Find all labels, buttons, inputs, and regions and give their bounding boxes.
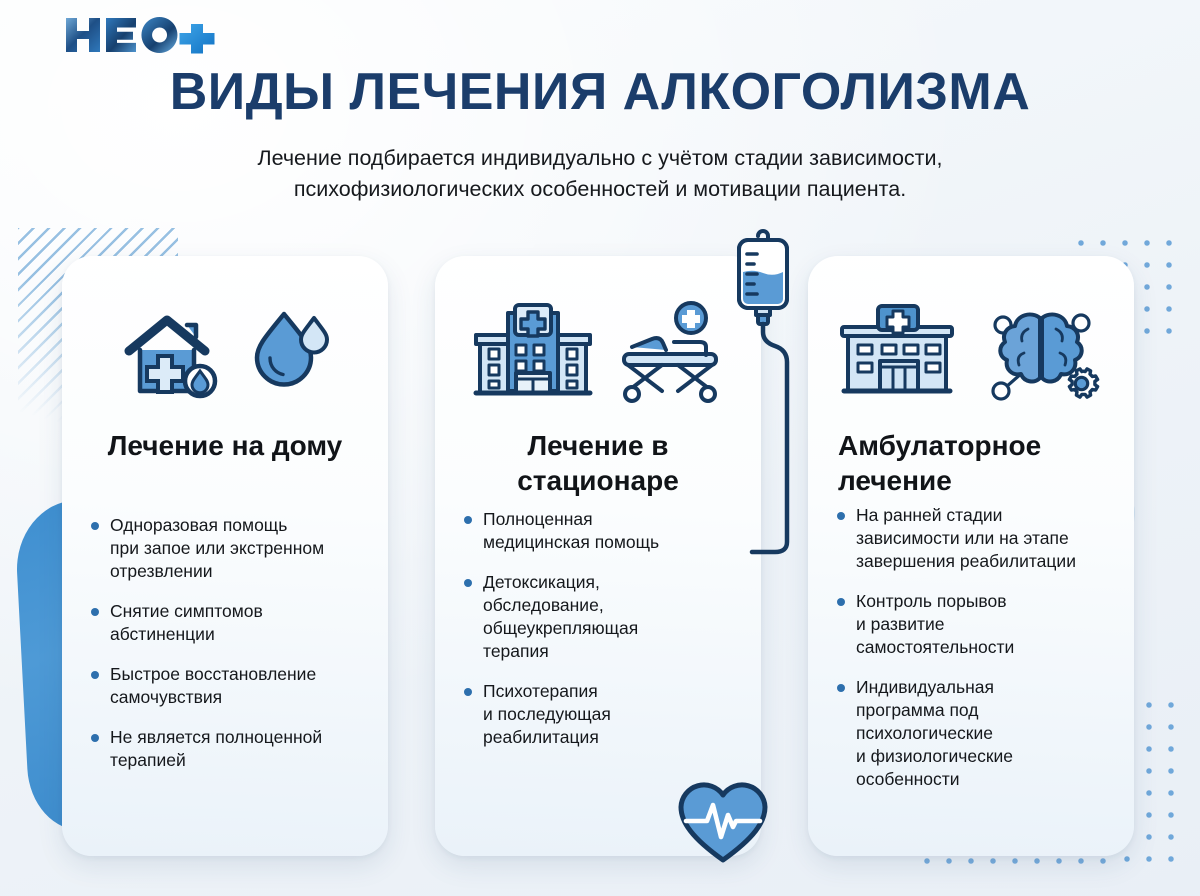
bullet-line: Быстрое восстановление [110,663,370,686]
clinic-building-icon [836,303,958,408]
bullet-line: особенности [856,768,1124,791]
list-item: Снятие симптомов абстиненции [90,600,370,646]
card-title: Лечение на дому [82,428,368,463]
bullet-line: самочувствия [110,686,370,709]
card-bullet-list: На ранней стадии зависимости или на этап… [836,504,1124,808]
bullet-line: при запое или экстренном [110,537,370,560]
hospital-building-icon [472,301,594,410]
card-title-line-2: лечение [838,465,952,496]
card-bullet-list: Одноразовая помощь при запое или экстрен… [90,514,370,789]
hospital-gurney-icon [616,301,724,410]
list-item: Индивидуальная программа под психологиче… [836,676,1124,791]
bullet-line: абстиненции [110,623,370,646]
bullet-line: отрезвлении [110,560,370,583]
bullet-line: Индивидуальная [856,676,1124,699]
list-item: Контроль порывов и развитие самостоятель… [836,590,1124,659]
bullet-line: и развитие [856,613,1124,636]
bullet-line: обследование, [483,594,743,617]
list-item: Психотерапия и последующая реабилитация [463,680,743,749]
bullet-line: Психотерапия [483,680,743,703]
card-title: Амбулаторное лечение [838,428,1114,498]
card-inpatient-treatment[interactable]: Лечение в стационаре Полноценная медицин… [435,256,761,856]
card-icons [808,290,1134,420]
card-bullet-list: Полноценная медицинская помощь Детоксика… [463,508,743,766]
bullet-line: общеукрепляющая [483,617,743,640]
list-item: Детоксикация, обследование, общеукрепляю… [463,571,743,663]
subtitle-line-2: психофизиологических особенностей и моти… [0,174,1200,205]
bullet-line: Снятие симптомов [110,600,370,623]
brain-gear-icon [984,301,1100,410]
infographic-root: ВИДЫ ЛЕЧЕНИЯ АЛКОГОЛИЗМА Лечение подбира… [0,0,1200,896]
page-title: ВИДЫ ЛЕЧЕНИЯ АЛКОГОЛИЗМА [0,62,1200,122]
neo-plus-logo[interactable] [64,12,224,58]
list-item: Не является полноценной терапией [90,726,370,772]
page-subtitle: Лечение подбирается индивидуально с учёт… [0,143,1200,205]
treatment-cards: Лечение на дому Одноразовая помощь при з… [0,256,1200,868]
water-drop-icon [246,306,330,405]
card-outpatient-treatment[interactable]: Амбулаторное лечение На ранней стадии за… [808,256,1134,856]
bullet-line: Полноценная [483,508,743,531]
bullet-line: Одноразовая помощь [110,514,370,537]
house-medical-icon [120,307,224,404]
list-item: На ранней стадии зависимости или на этап… [836,504,1124,573]
bullet-line: завершения реабилитации [856,550,1124,573]
subtitle-line-1: Лечение подбирается индивидуально с учёт… [0,143,1200,174]
card-title: Лечение в стационаре [455,428,741,498]
list-item: Полноценная медицинская помощь [463,508,743,554]
bullet-line: и последующая [483,703,743,726]
bullet-line: Контроль порывов [856,590,1124,613]
bullet-line: зависимости или на этапе [856,527,1124,550]
list-item: Быстрое восстановление самочувствия [90,663,370,709]
bullet-line: и физиологические [856,745,1124,768]
bullet-line: самостоятельности [856,636,1124,659]
list-item: Одноразовая помощь при запое или экстрен… [90,514,370,583]
card-title-line-2: на дому [232,430,343,461]
bullet-line: Не является полноценной [110,726,370,749]
bullet-line: На ранней стадии [856,504,1124,527]
bullet-line: медицинская помощь [483,531,743,554]
card-icons [62,290,388,420]
card-title-line-1: Лечение [527,430,643,461]
card-home-treatment[interactable]: Лечение на дому Одноразовая помощь при з… [62,256,388,856]
bullet-line: терапией [110,749,370,772]
bullet-line: Детоксикация, [483,571,743,594]
bullet-line: психологические [856,722,1124,745]
card-title-line-1: Лечение [108,430,224,461]
bullet-line: реабилитация [483,726,743,749]
card-icons [435,290,761,420]
bullet-line: программа под [856,699,1124,722]
card-title-line-1: Амбулаторное [838,430,1041,461]
bullet-line: терапия [483,640,743,663]
